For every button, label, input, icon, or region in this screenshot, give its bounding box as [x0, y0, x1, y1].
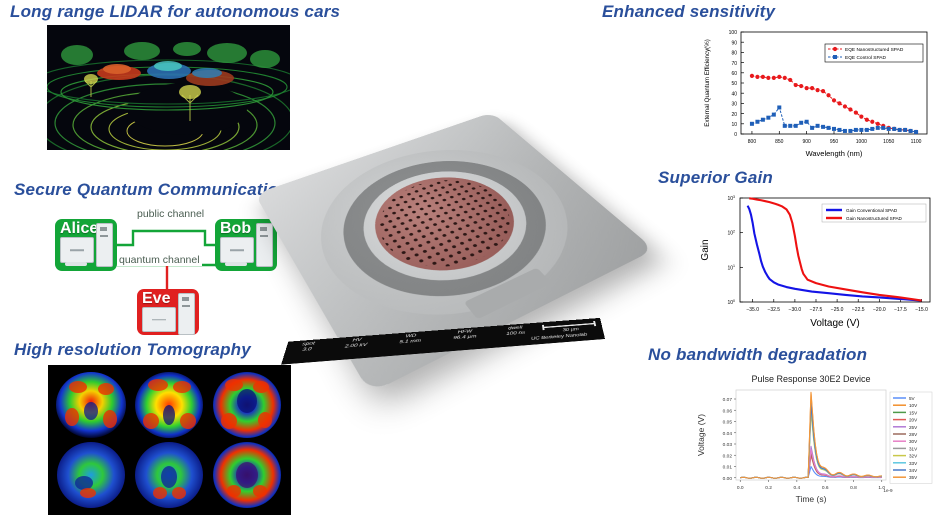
svg-text:Voltage (V): Voltage (V) — [696, 414, 706, 456]
lidar-svg — [47, 25, 290, 150]
heading-enhanced-sensitivity: Enhanced sensitivity — [602, 2, 775, 22]
svg-text:0.6: 0.6 — [822, 485, 829, 491]
svg-text:10: 10 — [731, 122, 737, 128]
svg-text:900: 900 — [802, 139, 811, 145]
svg-text:15V: 15V — [909, 410, 918, 415]
svg-text:0.01: 0.01 — [723, 465, 733, 471]
svg-text:850: 850 — [775, 139, 784, 145]
quantum-channel-label: quantum channel — [117, 254, 202, 266]
bob-stand — [225, 262, 247, 266]
heading-no-bandwidth-degradation: No bandwidth degradation — [648, 345, 867, 365]
svg-text:32V: 32V — [909, 454, 918, 459]
svg-text:28V: 28V — [909, 432, 918, 437]
svg-text:0: 0 — [734, 132, 737, 138]
svg-text:−17.5: −17.5 — [894, 307, 907, 313]
svg-text:70: 70 — [731, 61, 737, 67]
svg-text:0.8: 0.8 — [850, 485, 857, 491]
public-channel-label: public channel — [135, 208, 206, 220]
svg-text:800: 800 — [748, 139, 757, 145]
qkd-diagram: Alice Bob Eve public channel quantum cha… — [55, 205, 280, 333]
svg-text:Pulse Response 30E2 Device: Pulse Response 30E2 Device — [751, 374, 870, 384]
svg-text:31V: 31V — [909, 446, 918, 451]
sem-device-image: spot 3.0 HV 2.00 kV WD 5.1 mm HFW 96.4 µ… — [277, 58, 617, 388]
svg-text:Gain: Gain — [700, 239, 711, 260]
sem-field-wd: WD 5.1 mm — [381, 330, 438, 356]
svg-text:−20.0: −20.0 — [873, 307, 886, 313]
svg-text:50: 50 — [731, 81, 737, 87]
svg-text:35V: 35V — [909, 475, 918, 480]
pet-scan-svg — [48, 365, 291, 515]
chart-eqe: 0102030405060708090100800850900950100010… — [697, 26, 933, 162]
svg-text:External Quantum Efficiency(%): External Quantum Efficiency(%) — [704, 39, 711, 127]
svg-text:20V: 20V — [909, 418, 918, 423]
svg-text:33V: 33V — [909, 461, 918, 466]
svg-text:Gain Conventional SPAD: Gain Conventional SPAD — [846, 208, 898, 213]
svg-text:Wavelength (nm): Wavelength (nm) — [806, 149, 863, 158]
eve-tower — [178, 293, 195, 335]
alice-stand — [65, 262, 87, 266]
svg-text:1e-9: 1e-9 — [883, 488, 893, 493]
tomography-image — [48, 365, 291, 515]
svg-text:−30.0: −30.0 — [789, 307, 802, 313]
svg-text:60: 60 — [731, 71, 737, 77]
node-eve-label: Eve — [137, 289, 174, 308]
chart-gain-svg: 100101102103−35.0−32.5−30.0−27.5−25.0−22… — [694, 190, 936, 338]
sem-field-hv-value: 2.00 kV — [344, 342, 367, 349]
svg-text:100: 100 — [729, 30, 738, 36]
heading-tomography: High resolution Tomography — [14, 340, 251, 360]
svg-text:80: 80 — [731, 51, 737, 57]
chart-pulse-response: Pulse Response 30E2 Device0.000.010.020.… — [688, 368, 936, 516]
svg-text:0.0: 0.0 — [737, 485, 744, 491]
svg-text:25V: 25V — [909, 425, 918, 430]
alice-monitor — [60, 237, 94, 263]
svg-text:0.02: 0.02 — [723, 453, 733, 459]
svg-text:EQE Control SPAD: EQE Control SPAD — [845, 55, 887, 61]
svg-text:20: 20 — [731, 112, 737, 118]
svg-text:−15.0: −15.0 — [915, 307, 928, 313]
svg-text:103: 103 — [727, 195, 735, 202]
heading-lidar: Long range LIDAR for autonomous cars — [10, 2, 340, 22]
svg-text:5V: 5V — [909, 396, 916, 401]
svg-text:−22.5: −22.5 — [852, 307, 865, 313]
svg-text:100: 100 — [727, 299, 735, 306]
svg-text:34V: 34V — [909, 468, 918, 473]
svg-text:30: 30 — [731, 102, 737, 108]
eve-monitor — [142, 307, 176, 332]
svg-text:EQE Nanostructured SPAD: EQE Nanostructured SPAD — [845, 47, 904, 53]
svg-text:102: 102 — [727, 229, 735, 236]
sem-field-dwell: dwell 100 ns — [492, 323, 542, 348]
sem-scalebar-segment: 30 µm UC Berkeley Nanolab — [538, 318, 605, 344]
svg-text:0.05: 0.05 — [723, 420, 733, 426]
svg-text:0.03: 0.03 — [723, 442, 733, 448]
svg-text:90: 90 — [731, 40, 737, 46]
alice-tower — [96, 223, 113, 267]
svg-text:0.07: 0.07 — [723, 397, 733, 403]
bob-tower — [256, 223, 273, 267]
chart-gain: 100101102103−35.0−32.5−30.0−27.5−25.0−22… — [694, 190, 936, 338]
svg-text:101: 101 — [727, 264, 735, 271]
sem-field-dwell-value: 100 ns — [506, 330, 525, 336]
svg-text:1050: 1050 — [883, 139, 894, 145]
svg-text:1100: 1100 — [911, 139, 922, 145]
chart-pulse-svg: Pulse Response 30E2 Device0.000.010.020.… — [688, 368, 936, 516]
svg-text:40: 40 — [731, 91, 737, 97]
svg-text:10V: 10V — [909, 403, 918, 408]
heading-superior-gain: Superior Gain — [658, 168, 773, 188]
node-bob-label: Bob — [215, 219, 255, 238]
sem-field-hfw-value: 96.4 µm — [453, 334, 476, 341]
svg-text:−32.5: −32.5 — [767, 307, 780, 313]
svg-text:950: 950 — [830, 139, 839, 145]
bob-monitor — [220, 237, 254, 263]
heading-quantum-comm: Secure Quantum Communications — [14, 180, 298, 200]
sem-field-hv: HV 2.00 kV — [325, 334, 385, 361]
sem-field-hfw: HFW 96.4 µm — [436, 326, 493, 352]
svg-text:Gain Nanostructured SPAD: Gain Nanostructured SPAD — [846, 216, 903, 221]
lidar-point-cloud-image — [47, 25, 290, 150]
svg-text:30V: 30V — [909, 439, 918, 444]
svg-text:Time (s): Time (s) — [796, 494, 827, 504]
svg-text:−35.0: −35.0 — [746, 307, 759, 313]
svg-text:1000: 1000 — [856, 139, 867, 145]
svg-text:0.04: 0.04 — [723, 431, 733, 437]
svg-text:−25.0: −25.0 — [831, 307, 844, 313]
chart-eqe-svg: 0102030405060708090100800850900950100010… — [697, 26, 933, 162]
svg-text:0.00: 0.00 — [723, 476, 733, 482]
sem-field-spot-value: 3.0 — [302, 347, 313, 353]
svg-text:0.06: 0.06 — [723, 408, 733, 414]
svg-text:−27.5: −27.5 — [810, 307, 823, 313]
svg-text:0.4: 0.4 — [794, 485, 801, 491]
svg-text:0.2: 0.2 — [765, 485, 772, 491]
sem-field-spot-label: spot — [302, 341, 316, 347]
sem-field-wd-value: 5.1 mm — [399, 338, 421, 345]
svg-text:Voltage (V): Voltage (V) — [810, 318, 859, 329]
